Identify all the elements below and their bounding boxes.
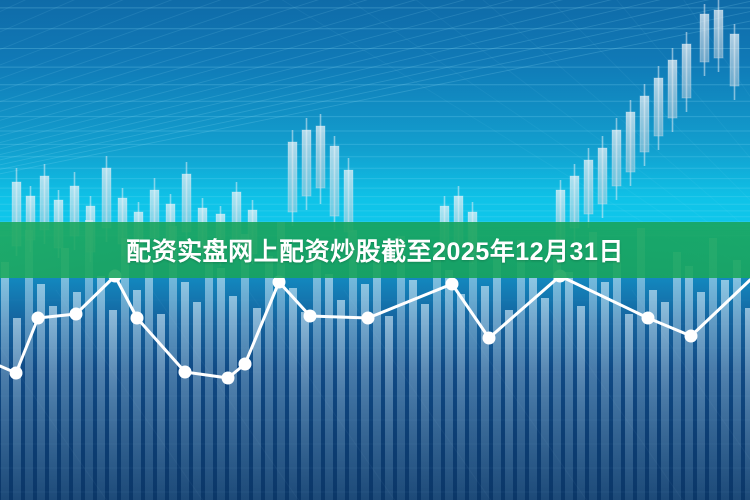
stock-banner-image: 配资实盘网上配资炒股截至2025年12月31日 [0,0,750,500]
page-title: 配资实盘网上配资炒股截至2025年12月31日 [0,222,750,278]
